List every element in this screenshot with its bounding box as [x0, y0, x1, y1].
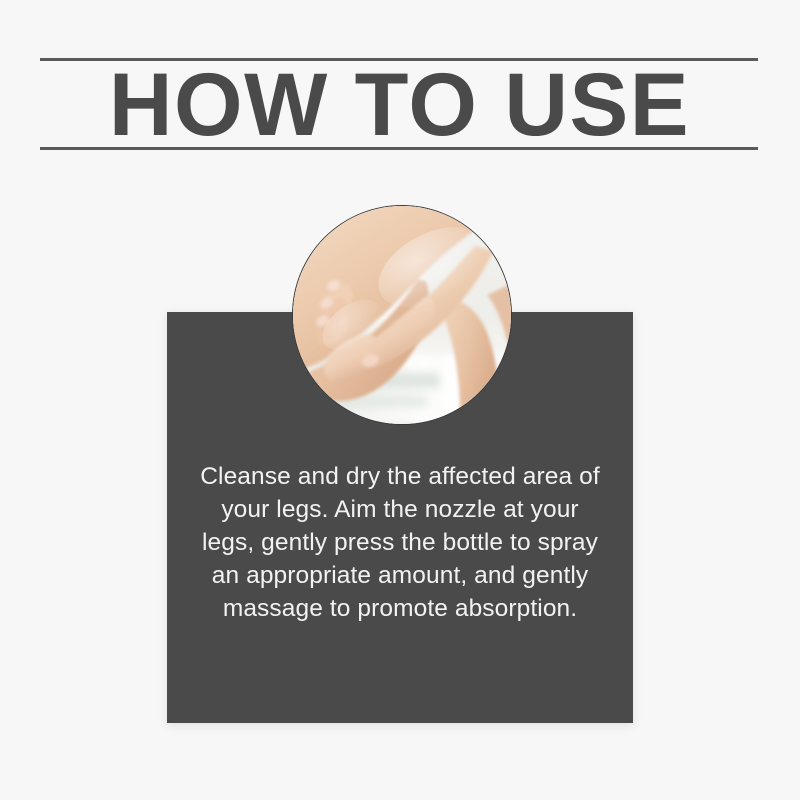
legs-massage-image	[293, 206, 511, 424]
how-to-use-infographic: HOW TO USE Cleanse and dry the affected …	[0, 0, 800, 800]
header-band: HOW TO USE	[40, 58, 758, 150]
page-title: HOW TO USE	[108, 67, 689, 142]
product-use-photo	[292, 205, 512, 425]
instruction-text: Cleanse and dry the affected area of you…	[167, 460, 633, 625]
